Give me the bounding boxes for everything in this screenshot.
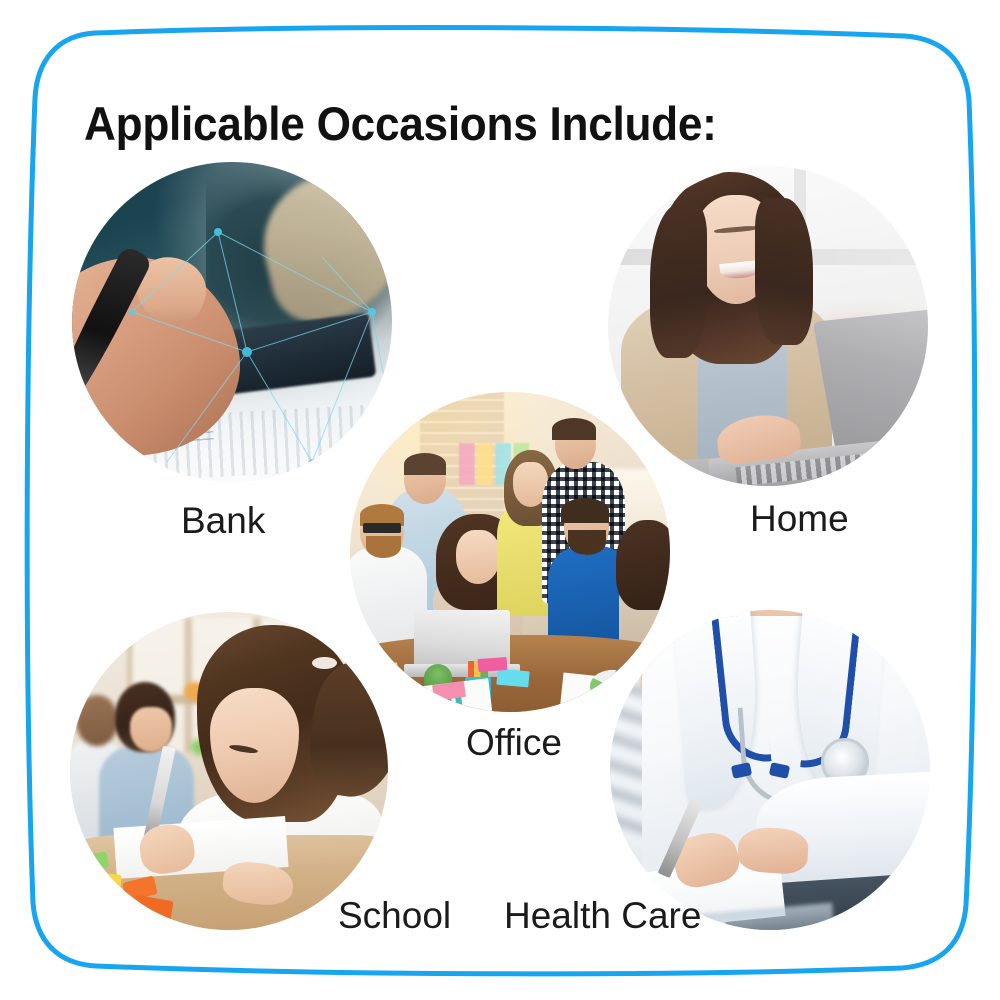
occasion-photo-school: [70, 612, 388, 930]
occasion-label-office: Office: [466, 722, 562, 764]
occasion-photo-health-care: [610, 610, 930, 930]
occasion-label-school: School: [338, 895, 451, 937]
occasion-photo-bank: [72, 162, 392, 482]
office-person-plaid-hair: [552, 418, 597, 440]
home-hair-right-strand: [755, 198, 813, 345]
school-foam-letter-yellow: [85, 871, 122, 894]
office-person-blue-hair: [561, 498, 609, 524]
office-person-standing-left-hair: [404, 453, 446, 475]
school-girl-hair-tie: [312, 657, 337, 670]
office-glasses-icon: [363, 523, 401, 533]
occasion-label-bank: Bank: [181, 500, 265, 542]
office-person-center-face: [456, 530, 501, 584]
school-boy-face: [130, 707, 171, 752]
promo-graphic: Applicable Occasions Include: Bank: [0, 0, 1000, 1000]
office-sticky-note-cyan: [497, 669, 530, 688]
page-title: Applicable Occasions Include:: [84, 96, 717, 151]
home-hair-left-strand: [650, 204, 708, 358]
occasion-label-health-care: Health Care: [504, 895, 701, 937]
bank-network-overlay: [72, 162, 392, 482]
occasion-label-home: Home: [750, 498, 849, 540]
office-person-blue-beard: [568, 530, 606, 556]
office-sticky-note-magenta: [478, 657, 508, 672]
office-person-right-hair: [616, 520, 670, 610]
school-child-back-head: [76, 695, 117, 746]
